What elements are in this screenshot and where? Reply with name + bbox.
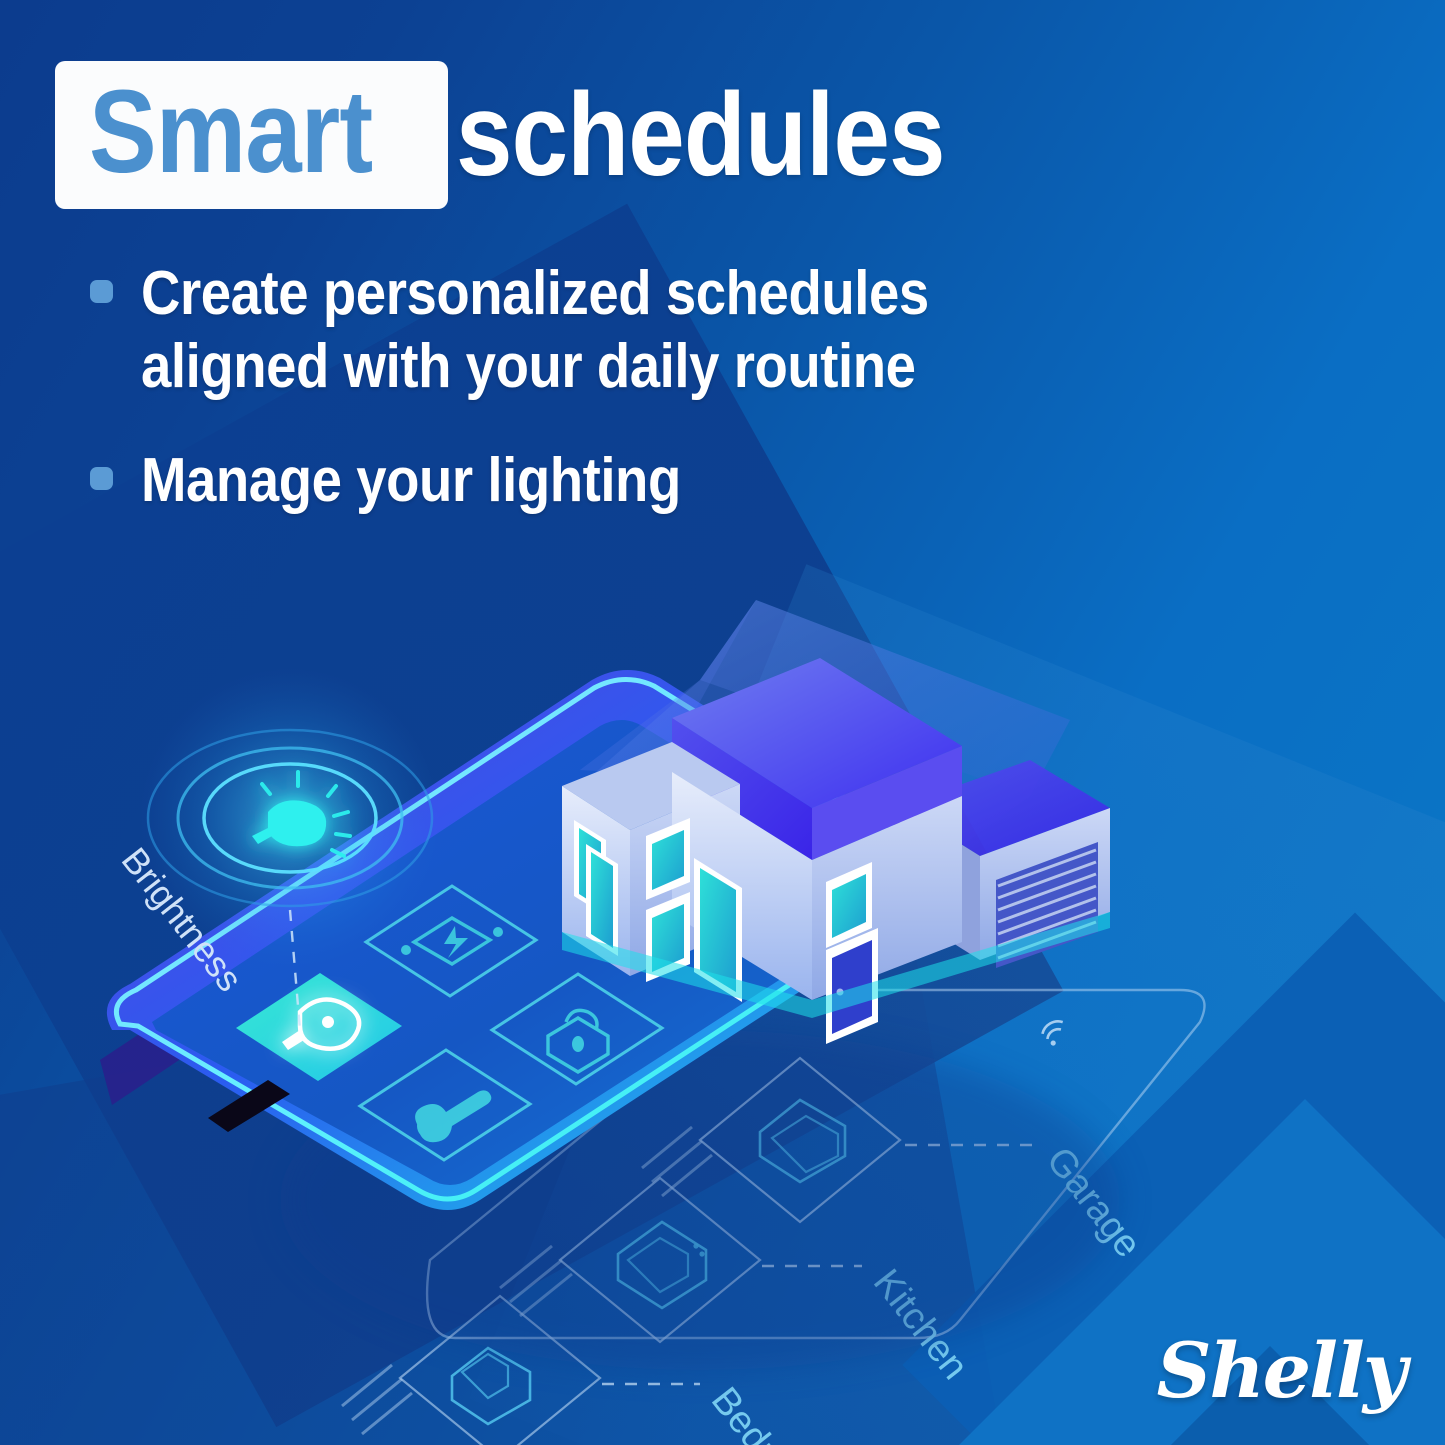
smart-home-illustration: Garage (0, 560, 1445, 1445)
title-rest-word: schedules (456, 76, 945, 194)
list-item: Create personalized schedules aligned wi… (90, 258, 1230, 403)
brand-logo: Shelly (1157, 1326, 1405, 1415)
room-label-bedroom: Bedroom (703, 1380, 831, 1445)
feature-bullet-list: Create personalized schedules aligned wi… (90, 258, 1230, 560)
page-title: Smart schedules (55, 60, 1025, 210)
bullet-marker-icon (90, 467, 113, 490)
list-item: Manage your lighting (90, 445, 1230, 518)
bullet-text: Create personalized schedules aligned wi… (141, 258, 929, 403)
title-highlight-word: Smart (89, 73, 372, 191)
bullet-text: Manage your lighting (141, 445, 681, 518)
title-highlight-box: Smart (55, 61, 448, 209)
wifi-icon (1041, 1020, 1067, 1047)
bed-icon (452, 1348, 530, 1424)
bullet-marker-icon (90, 280, 113, 303)
smart-schedules-poster: Smart schedules Create personalized sche… (0, 0, 1445, 1445)
